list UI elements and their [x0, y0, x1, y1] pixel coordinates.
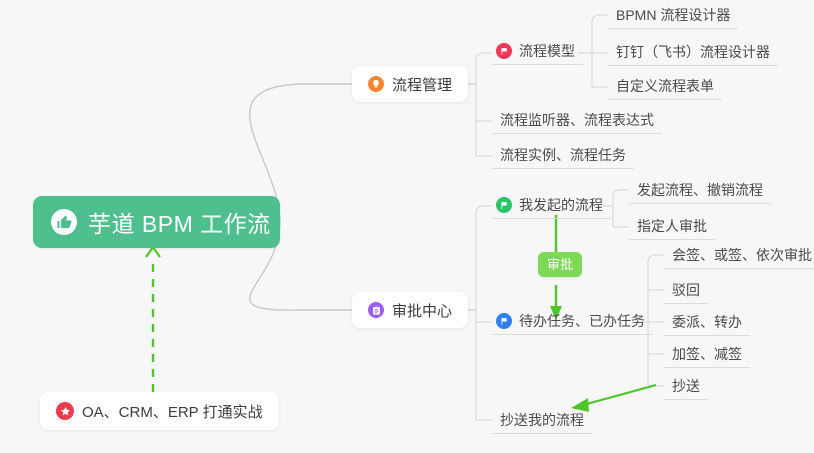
- cc-link-arrow: [583, 385, 656, 405]
- leaf-label: 委派、转办: [672, 314, 742, 330]
- leaf-reject[interactable]: 驳回: [664, 281, 708, 304]
- node-label-process-model: 流程模型: [519, 42, 575, 60]
- leaf-custom-form[interactable]: 自定义流程表单: [608, 77, 722, 100]
- node-todo-done-tasks[interactable]: 待办任务、已办任务: [492, 312, 653, 335]
- leaf-label: 流程监听器、流程表达式: [500, 112, 654, 128]
- leaf-label: 加签、减签: [672, 346, 742, 362]
- branch-label-approval-center: 审批中心: [392, 300, 452, 321]
- root-node[interactable]: 芋道 BPM 工作流: [33, 196, 280, 248]
- thumbs-up-icon: [51, 209, 77, 235]
- leaf-start-cancel-process[interactable]: 发起流程、撤销流程: [629, 181, 771, 204]
- cc-link-arrowhead: [571, 398, 589, 412]
- flag-icon: [496, 43, 512, 59]
- leaf-label: BPMN 流程设计器: [616, 7, 730, 23]
- node-process-model[interactable]: 流程模型: [492, 42, 583, 65]
- leaf-label: 自定义流程表单: [616, 78, 714, 94]
- leaf-bpmn-designer[interactable]: BPMN 流程设计器: [608, 6, 738, 29]
- footer-node-label: OA、CRM、ERP 打通实战: [82, 401, 263, 422]
- star-icon: [56, 402, 74, 420]
- leaf-countersign[interactable]: 会签、或签、依次审批: [664, 246, 814, 269]
- wire-todo-child-1: [648, 255, 664, 262]
- leaf-label: 会签、或签、依次审批: [672, 247, 812, 263]
- footer-arrowhead: [146, 247, 160, 257]
- leaf-label: 抄送: [672, 378, 700, 394]
- leaf-instance-task[interactable]: 流程实例、流程任务: [492, 146, 634, 169]
- wire-mine-child-1: [613, 190, 629, 196]
- leaf-add-remove-sign[interactable]: 加签、减签: [664, 345, 750, 368]
- leaf-cc-to-me[interactable]: 抄送我的流程: [492, 411, 592, 434]
- root-label: 芋道 BPM 工作流: [88, 205, 271, 239]
- branch-node-process-management[interactable]: 流程管理: [352, 66, 468, 102]
- node-my-initiated[interactable]: 我发起的流程: [492, 196, 611, 219]
- flag-icon: [496, 313, 512, 329]
- flag-icon: [496, 197, 512, 213]
- approval-tag-label: 审批: [547, 257, 573, 272]
- branch-node-approval-center[interactable]: 审批中心: [352, 292, 468, 328]
- wire-model-child-1: [592, 15, 608, 22]
- leaf-listener-expression[interactable]: 流程监听器、流程表达式: [492, 111, 662, 134]
- leaf-dingtalk-designer[interactable]: 钉钉（飞书）流程设计器: [608, 43, 778, 66]
- wire-ac-child-1: [476, 206, 492, 213]
- footer-node-integration[interactable]: OA、CRM、ERP 打通实战: [40, 392, 279, 430]
- leaf-label: 钉钉（飞书）流程设计器: [616, 44, 770, 60]
- leaf-label: 流程实例、流程任务: [500, 147, 626, 163]
- leaf-label: 发起流程、撤销流程: [637, 182, 763, 198]
- leaf-label: 指定人审批: [637, 218, 707, 234]
- leaf-delegate-transfer[interactable]: 委派、转办: [664, 313, 750, 336]
- leaf-assignee-approval[interactable]: 指定人审批: [629, 217, 715, 240]
- branch-label-process-management: 流程管理: [392, 74, 452, 95]
- lightbulb-icon: [368, 76, 384, 92]
- clipboard-icon: [368, 302, 384, 318]
- node-label-my-initiated: 我发起的流程: [519, 196, 603, 214]
- leaf-cc[interactable]: 抄送: [664, 377, 708, 400]
- node-label-todo-done-tasks: 待办任务、已办任务: [519, 312, 645, 330]
- mindmap-canvas: 芋道 BPM 工作流 流程管理 流程模型 BPMN 流程设计器 钉钉（飞书）流程…: [0, 0, 814, 453]
- leaf-label: 驳回: [672, 282, 700, 298]
- leaf-label: 抄送我的流程: [500, 412, 584, 428]
- approval-tag[interactable]: 审批: [538, 252, 582, 277]
- wire-pm-child-1: [476, 53, 492, 60]
